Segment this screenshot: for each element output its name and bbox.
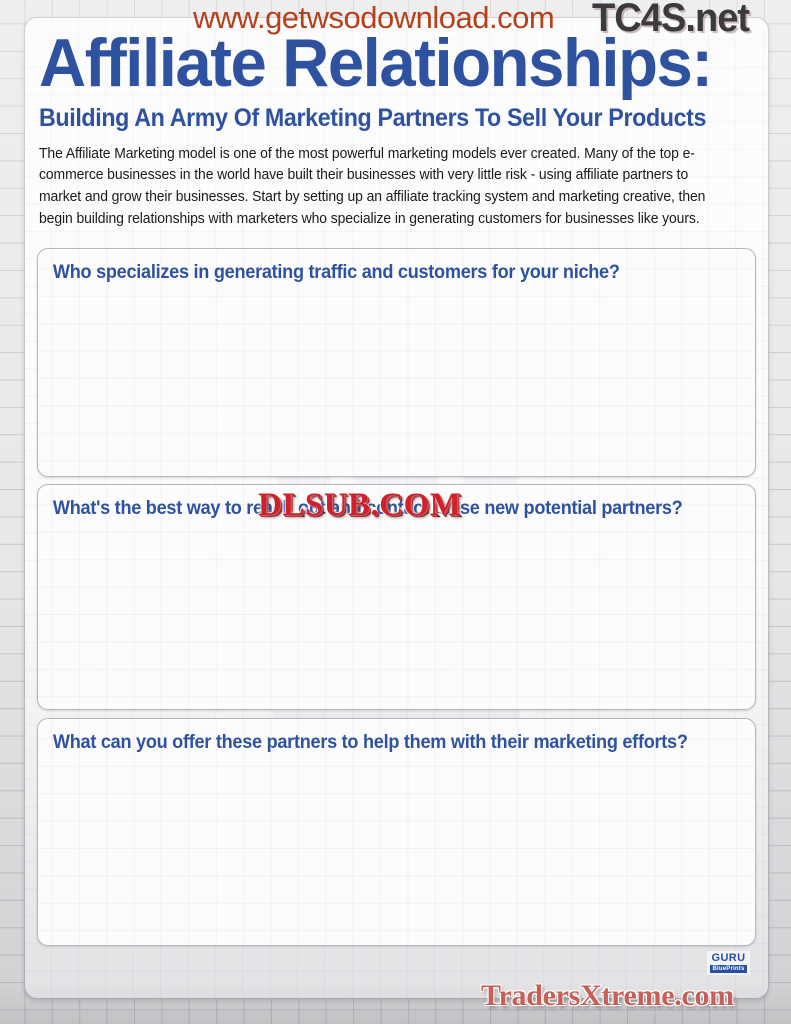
answer-input-1[interactable] xyxy=(38,284,755,475)
logo-blueprints-text: BluePrints xyxy=(710,965,746,973)
answer-input-3[interactable] xyxy=(38,754,755,944)
question-answer-area-1[interactable] xyxy=(38,284,755,475)
page-subtitle: Building An Army Of Marketing Partners T… xyxy=(39,105,704,131)
worksheet-card: Affiliate Relationships: Building An Arm… xyxy=(24,17,769,999)
question-label-2: What's the best way to reach out and con… xyxy=(38,485,705,520)
header-block: Affiliate Relationships: Building An Arm… xyxy=(25,18,768,231)
question-box-2: What's the best way to reach out and con… xyxy=(37,484,756,710)
question-box-3: What can you offer these partners to hel… xyxy=(37,718,756,946)
intro-paragraph: The Affiliate Marketing model is one of … xyxy=(39,144,733,232)
answer-input-2[interactable] xyxy=(38,520,755,708)
worksheet-page: Affiliate Relationships: Building An Arm… xyxy=(0,0,791,1024)
question-label-3: What can you offer these partners to hel… xyxy=(38,719,705,754)
page-title: Affiliate Relationships: xyxy=(39,18,725,97)
question-box-1: Who specializes in generating traffic an… xyxy=(37,248,756,477)
logo-guru-text: GURU xyxy=(712,953,746,964)
question-label-1: Who specializes in generating traffic an… xyxy=(38,249,705,284)
question-answer-area-2[interactable] xyxy=(38,520,755,708)
guru-blueprints-logo: GURU BluePrints xyxy=(707,951,750,975)
question-answer-area-3[interactable] xyxy=(38,754,755,944)
